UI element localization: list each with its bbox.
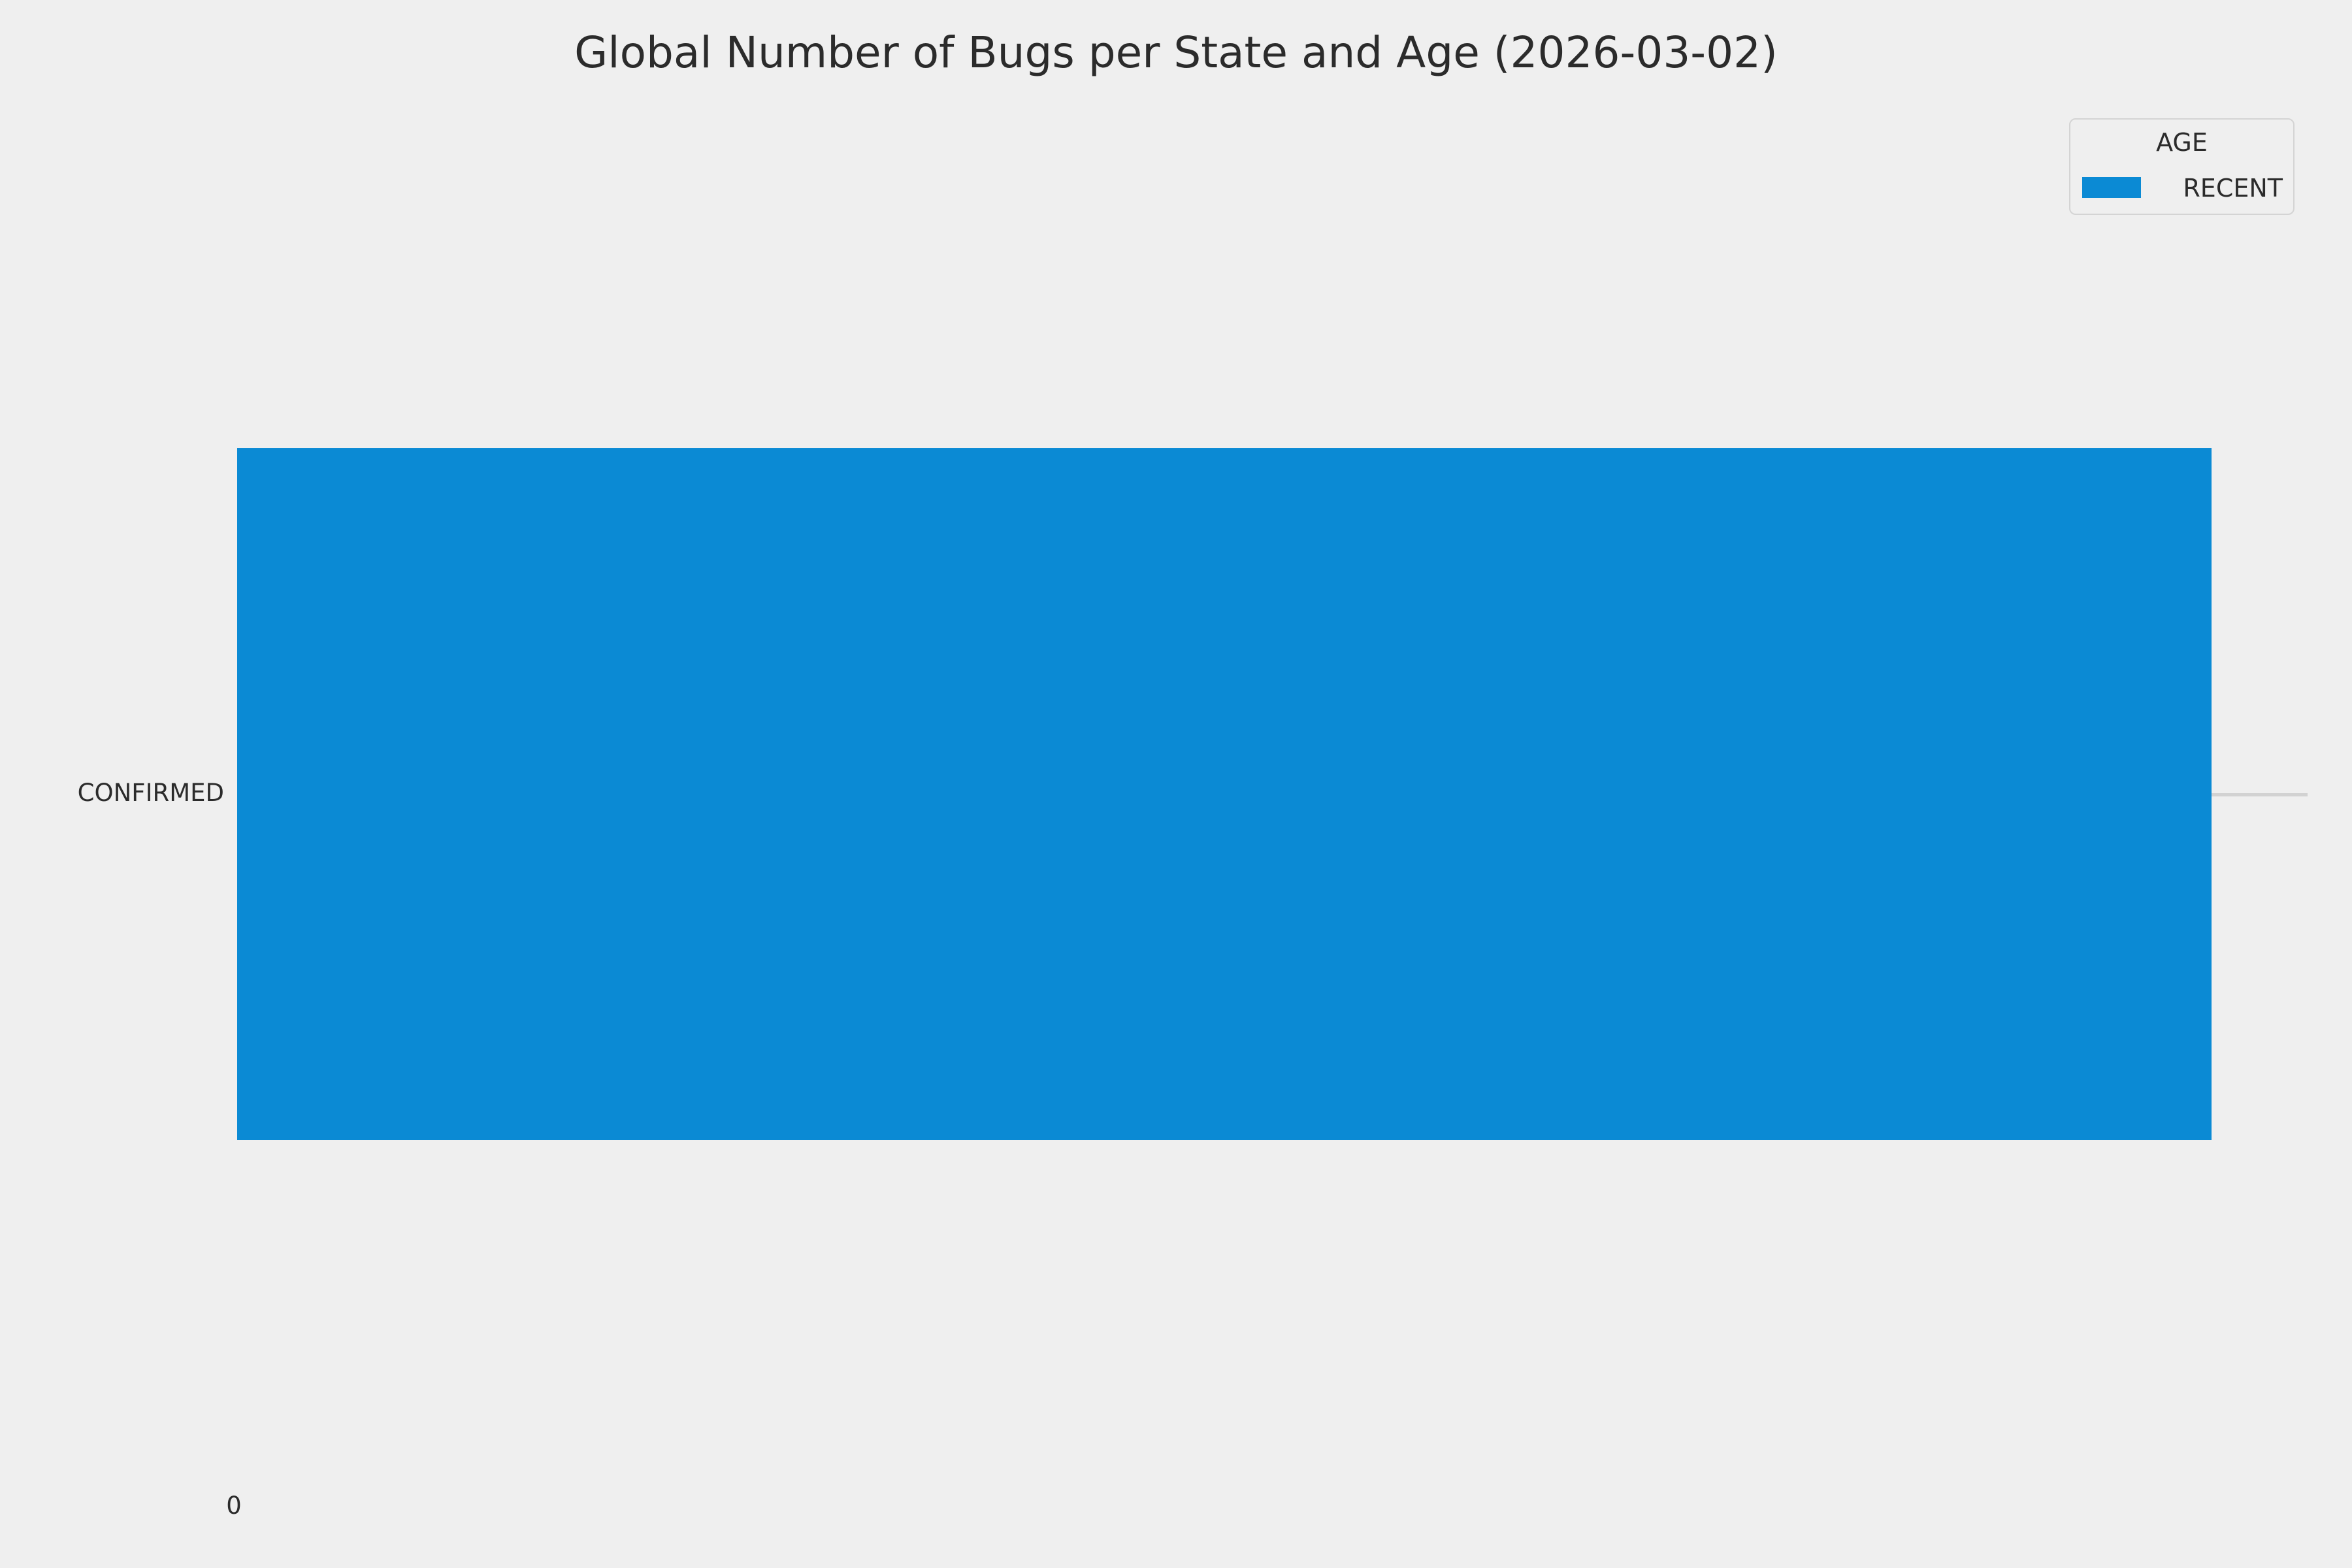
x-axis-tick-label-0: 0 bbox=[222, 1492, 246, 1520]
legend-label-recent: RECENT bbox=[2070, 174, 2283, 203]
legend-title: AGE bbox=[2070, 128, 2293, 157]
plot-area bbox=[237, 91, 2308, 1457]
y-axis-tick-label-confirmed: CONFIRMED bbox=[78, 779, 224, 807]
chart-title: Global Number of Bugs per State and Age … bbox=[0, 31, 2352, 74]
legend-entry-recent[interactable]: RECENT bbox=[2070, 174, 2293, 201]
bar-confirmed-recent[interactable] bbox=[237, 448, 2212, 1140]
chart-figure: Global Number of Bugs per State and Age … bbox=[0, 0, 2352, 1568]
legend-box: AGE RECENT bbox=[2069, 118, 2295, 215]
